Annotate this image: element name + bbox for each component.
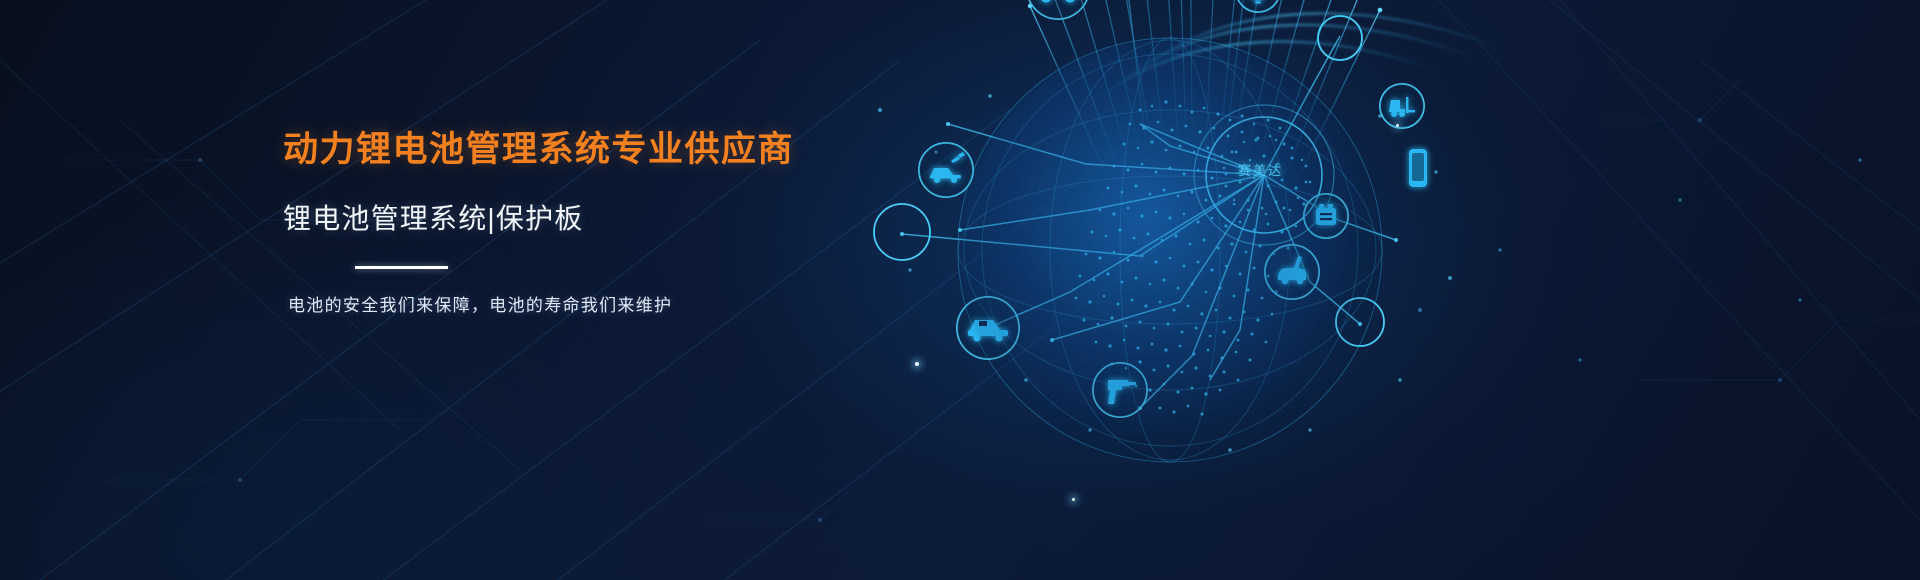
node-ev-charging xyxy=(919,143,973,197)
node-scooter xyxy=(1027,0,1089,19)
banner-subheadline: 锂电池管理系统|保护板 xyxy=(283,202,843,236)
hero-banner: 动力锂电池管理系统专业供应商 锂电池管理系统|保护板 电池的安全我们来保障，电池… xyxy=(0,0,1920,580)
sparkle-2 xyxy=(1072,498,1075,501)
banner-headline: 动力锂电池管理系统专业供应商 xyxy=(283,128,843,172)
globe-glow xyxy=(960,40,1380,460)
right-edge-dots xyxy=(1380,0,1920,580)
banner-tagline: 电池的安全我们来保障，电池的寿命我们来维护 xyxy=(288,291,843,316)
banner-divider xyxy=(355,266,448,269)
node-small-ring xyxy=(1318,16,1362,60)
globe-center-label: 赛美达 xyxy=(1238,160,1283,179)
sparkle-1 xyxy=(915,362,919,366)
banner-text-block: 动力锂电池管理系统专业供应商 锂电池管理系统|保护板 电池的安全我们来保障，电池… xyxy=(283,128,843,316)
